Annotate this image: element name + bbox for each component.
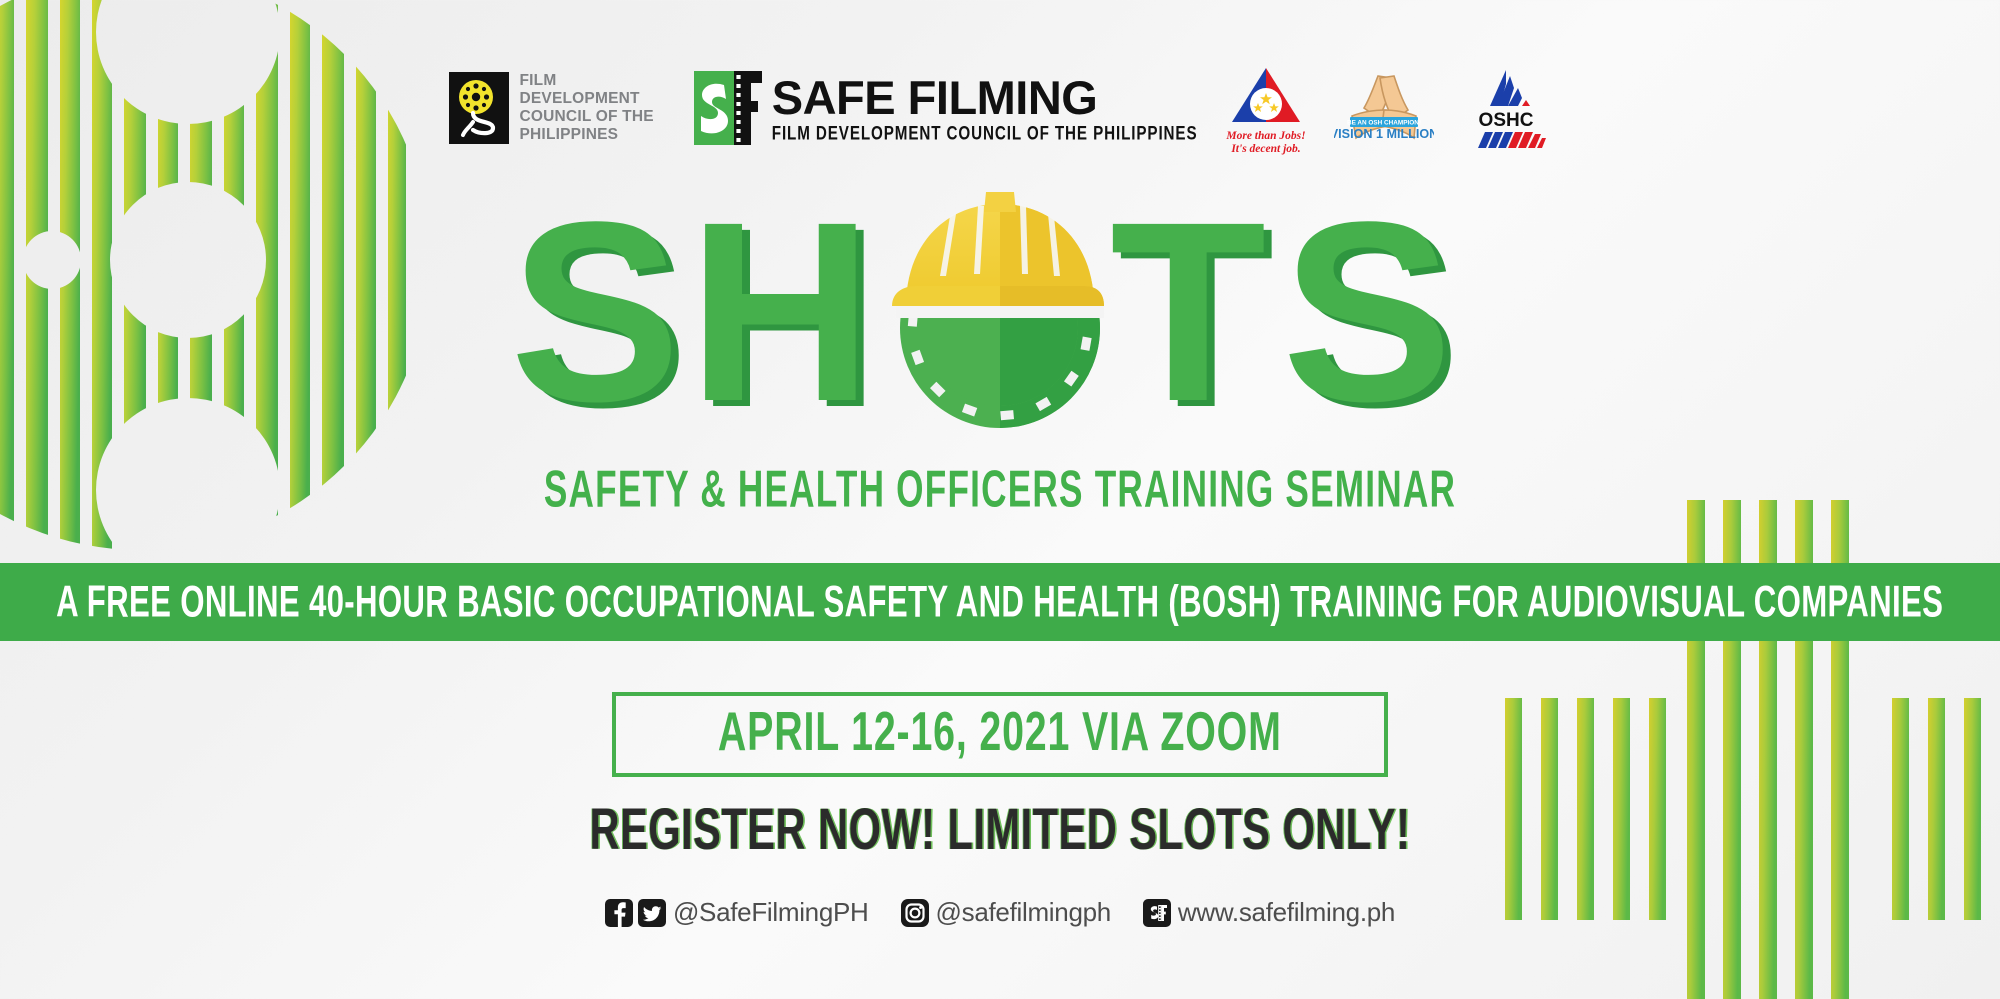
svg-text:S: S xyxy=(1282,178,1453,428)
safe-filming-logo: SAFE FILMING FILM DEVELOPMENT COUNCIL OF… xyxy=(694,71,1198,145)
oshc-label: OSHC xyxy=(1478,110,1533,131)
safe-filming-title: SAFE FILMING xyxy=(772,76,1198,121)
dole-tagline-2: It's decent job. xyxy=(1230,143,1300,155)
shots-letter-t: T T xyxy=(1110,178,1274,428)
shots-letter-s2: S S xyxy=(1282,178,1461,428)
film-reel-icon xyxy=(449,72,509,144)
vision-ribbon-main: VISION 1 MILLION xyxy=(1334,127,1434,141)
dole-tagline-1: More than Jobs! xyxy=(1225,130,1305,142)
poster-canvas: FILM DEVELOPMENT COUNCIL OF THE PHILIPPI… xyxy=(0,0,2000,999)
shots-letter-s1: S S xyxy=(510,178,689,428)
website-url: www.safefilming.ph xyxy=(1178,897,1395,928)
fdcp-logo-text: FILM DEVELOPMENT COUNCIL OF THE PHILIPPI… xyxy=(520,72,654,144)
social-group-instagram[interactable]: @safefilmingph xyxy=(901,897,1111,928)
shots-letter-h: H H xyxy=(688,178,881,428)
safe-filming-subtitle: FILM DEVELOPMENT COUNCIL OF THE PHILIPPI… xyxy=(772,123,1198,144)
hard-hat-filmstrip-icon xyxy=(892,192,1104,428)
facebook-twitter-handle: @SafeFilmingPH xyxy=(673,897,869,928)
social-group-facebook-twitter[interactable]: @SafeFilmingPH xyxy=(605,897,869,928)
svg-text:T: T xyxy=(1110,178,1266,428)
safe-filming-icon[interactable] xyxy=(1143,899,1171,927)
instagram-icon[interactable] xyxy=(901,899,929,927)
svg-text:H: H xyxy=(688,178,873,428)
headline-banner-text: A FREE ONLINE 40-HOUR BASIC OCCUPATIONAL… xyxy=(56,577,1943,627)
shots-tagline: SAFETY & HEALTH OFFICERS TRAINING SEMINA… xyxy=(200,461,1800,520)
shots-letters: S S H H T T S S xyxy=(500,178,1500,428)
date-box-wrapper: APRIL 12-16, 2021 VIA ZOOM xyxy=(0,692,2000,777)
instagram-handle: @safefilmingph xyxy=(936,897,1111,928)
facebook-icon[interactable] xyxy=(605,899,633,927)
social-group-website[interactable]: www.safefilming.ph xyxy=(1143,897,1395,928)
svg-text:S: S xyxy=(510,178,681,428)
partner-logo-row: FILM DEVELOPMENT COUNCIL OF THE PHILIPPI… xyxy=(0,60,2000,156)
call-to-action-text: REGISTER NOW! LIMITED SLOTS ONLY! xyxy=(200,796,1800,863)
shots-wordmark: S S H H T T S S xyxy=(0,178,2000,428)
clasped-hands-icon: BE AN OSH CHAMPION! VISION 1 MILLION xyxy=(1334,60,1434,156)
vision-ribbon-top: BE AN OSH CHAMPION! xyxy=(1347,119,1421,126)
twitter-icon[interactable] xyxy=(638,899,666,927)
headline-banner: A FREE ONLINE 40-HOUR BASIC OCCUPATIONAL… xyxy=(0,563,2000,641)
social-footer: @SafeFilmingPH @safefilmingph xyxy=(0,897,2000,928)
date-box: APRIL 12-16, 2021 VIA ZOOM xyxy=(612,692,1388,777)
sf-filmstrip-icon xyxy=(694,71,762,145)
oshc-triangle-icon: OSHC xyxy=(1460,60,1552,156)
fdcp-logo: FILM DEVELOPMENT COUNCIL OF THE PHILIPPI… xyxy=(449,72,654,144)
dole-triangle-icon: More than Jobs! It's decent job. xyxy=(1224,60,1308,156)
date-text: APRIL 12-16, 2021 VIA ZOOM xyxy=(718,701,1282,764)
